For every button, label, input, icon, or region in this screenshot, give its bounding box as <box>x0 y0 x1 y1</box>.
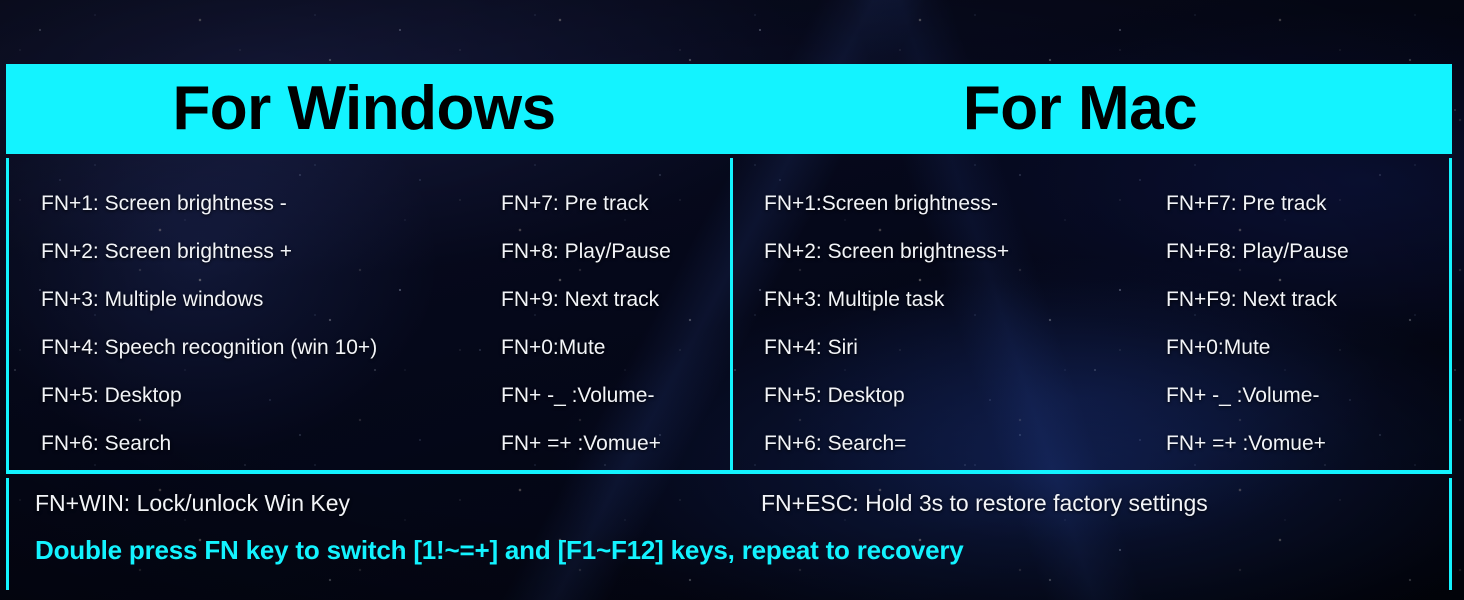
shortcut-item: FN+3: Multiple windows <box>41 276 491 324</box>
footer-row: FN+WIN: Lock/unlock Win Key FN+ESC: Hold… <box>9 478 1449 528</box>
header-title-mac: For Mac <box>722 64 1452 154</box>
shortcut-item: FN+4: Speech recognition (win 10+) <box>41 324 491 372</box>
shortcut-item: FN+2: Screen brightness+ <box>764 228 1160 276</box>
header-band: For Windows For Mac <box>6 64 1452 154</box>
shortcut-item: FN+ =+ :Vomue+ <box>501 420 671 468</box>
shortcut-item: FN+6: Search <box>41 420 491 468</box>
shortcut-item: FN+6: Search= <box>764 420 1160 468</box>
shortcut-item: FN+3: Multiple task <box>764 276 1160 324</box>
shortcut-item: FN+F7: Pre track <box>1166 180 1349 228</box>
windows-panel: FN+1: Screen brightness - FN+2: Screen b… <box>9 158 733 470</box>
shortcut-item: FN+4: Siri <box>764 324 1160 372</box>
windows-column-left: FN+1: Screen brightness - FN+2: Screen b… <box>9 158 491 470</box>
mac-column-right: FN+F7: Pre track FN+F8: Play/Pause FN+F9… <box>1160 158 1349 470</box>
shortcut-item: FN+F8: Play/Pause <box>1166 228 1349 276</box>
shortcut-item: FN+5: Desktop <box>41 372 491 420</box>
shortcut-item: FN+ -_ :Volume- <box>1166 372 1349 420</box>
footer-shortcut-win: FN+WIN: Lock/unlock Win Key <box>9 490 731 517</box>
shortcut-item: FN+ -_ :Volume- <box>501 372 671 420</box>
shortcut-item: FN+F9: Next track <box>1166 276 1349 324</box>
mac-panel: FN+1:Screen brightness- FN+2: Screen bri… <box>733 158 1449 470</box>
shortcut-item: FN+2: Screen brightness + <box>41 228 491 276</box>
shortcut-grid: FN+1: Screen brightness - FN+2: Screen b… <box>6 158 1452 474</box>
shortcut-item: FN+1: Screen brightness - <box>41 180 491 228</box>
header-title-windows: For Windows <box>6 64 722 154</box>
footer-panel: FN+WIN: Lock/unlock Win Key FN+ESC: Hold… <box>6 478 1452 590</box>
footer-shortcut-esc: FN+ESC: Hold 3s to restore factory setti… <box>731 490 1449 517</box>
shortcut-item: FN+9: Next track <box>501 276 671 324</box>
windows-column-right: FN+7: Pre track FN+8: Play/Pause FN+9: N… <box>491 158 671 470</box>
keyboard-shortcut-infographic: For Windows For Mac FN+1: Screen brightn… <box>0 0 1464 600</box>
shortcut-item: FN+ =+ :Vomue+ <box>1166 420 1349 468</box>
mac-column-left: FN+1:Screen brightness- FN+2: Screen bri… <box>733 158 1160 470</box>
shortcut-item: FN+1:Screen brightness- <box>764 180 1160 228</box>
shortcut-item: FN+7: Pre track <box>501 180 671 228</box>
footer-note: Double press FN key to switch [1!~=+] an… <box>9 528 1449 572</box>
shortcut-item: FN+0:Mute <box>501 324 671 372</box>
shortcut-item: FN+8: Play/Pause <box>501 228 671 276</box>
shortcut-item: FN+5: Desktop <box>764 372 1160 420</box>
shortcut-item: FN+0:Mute <box>1166 324 1349 372</box>
